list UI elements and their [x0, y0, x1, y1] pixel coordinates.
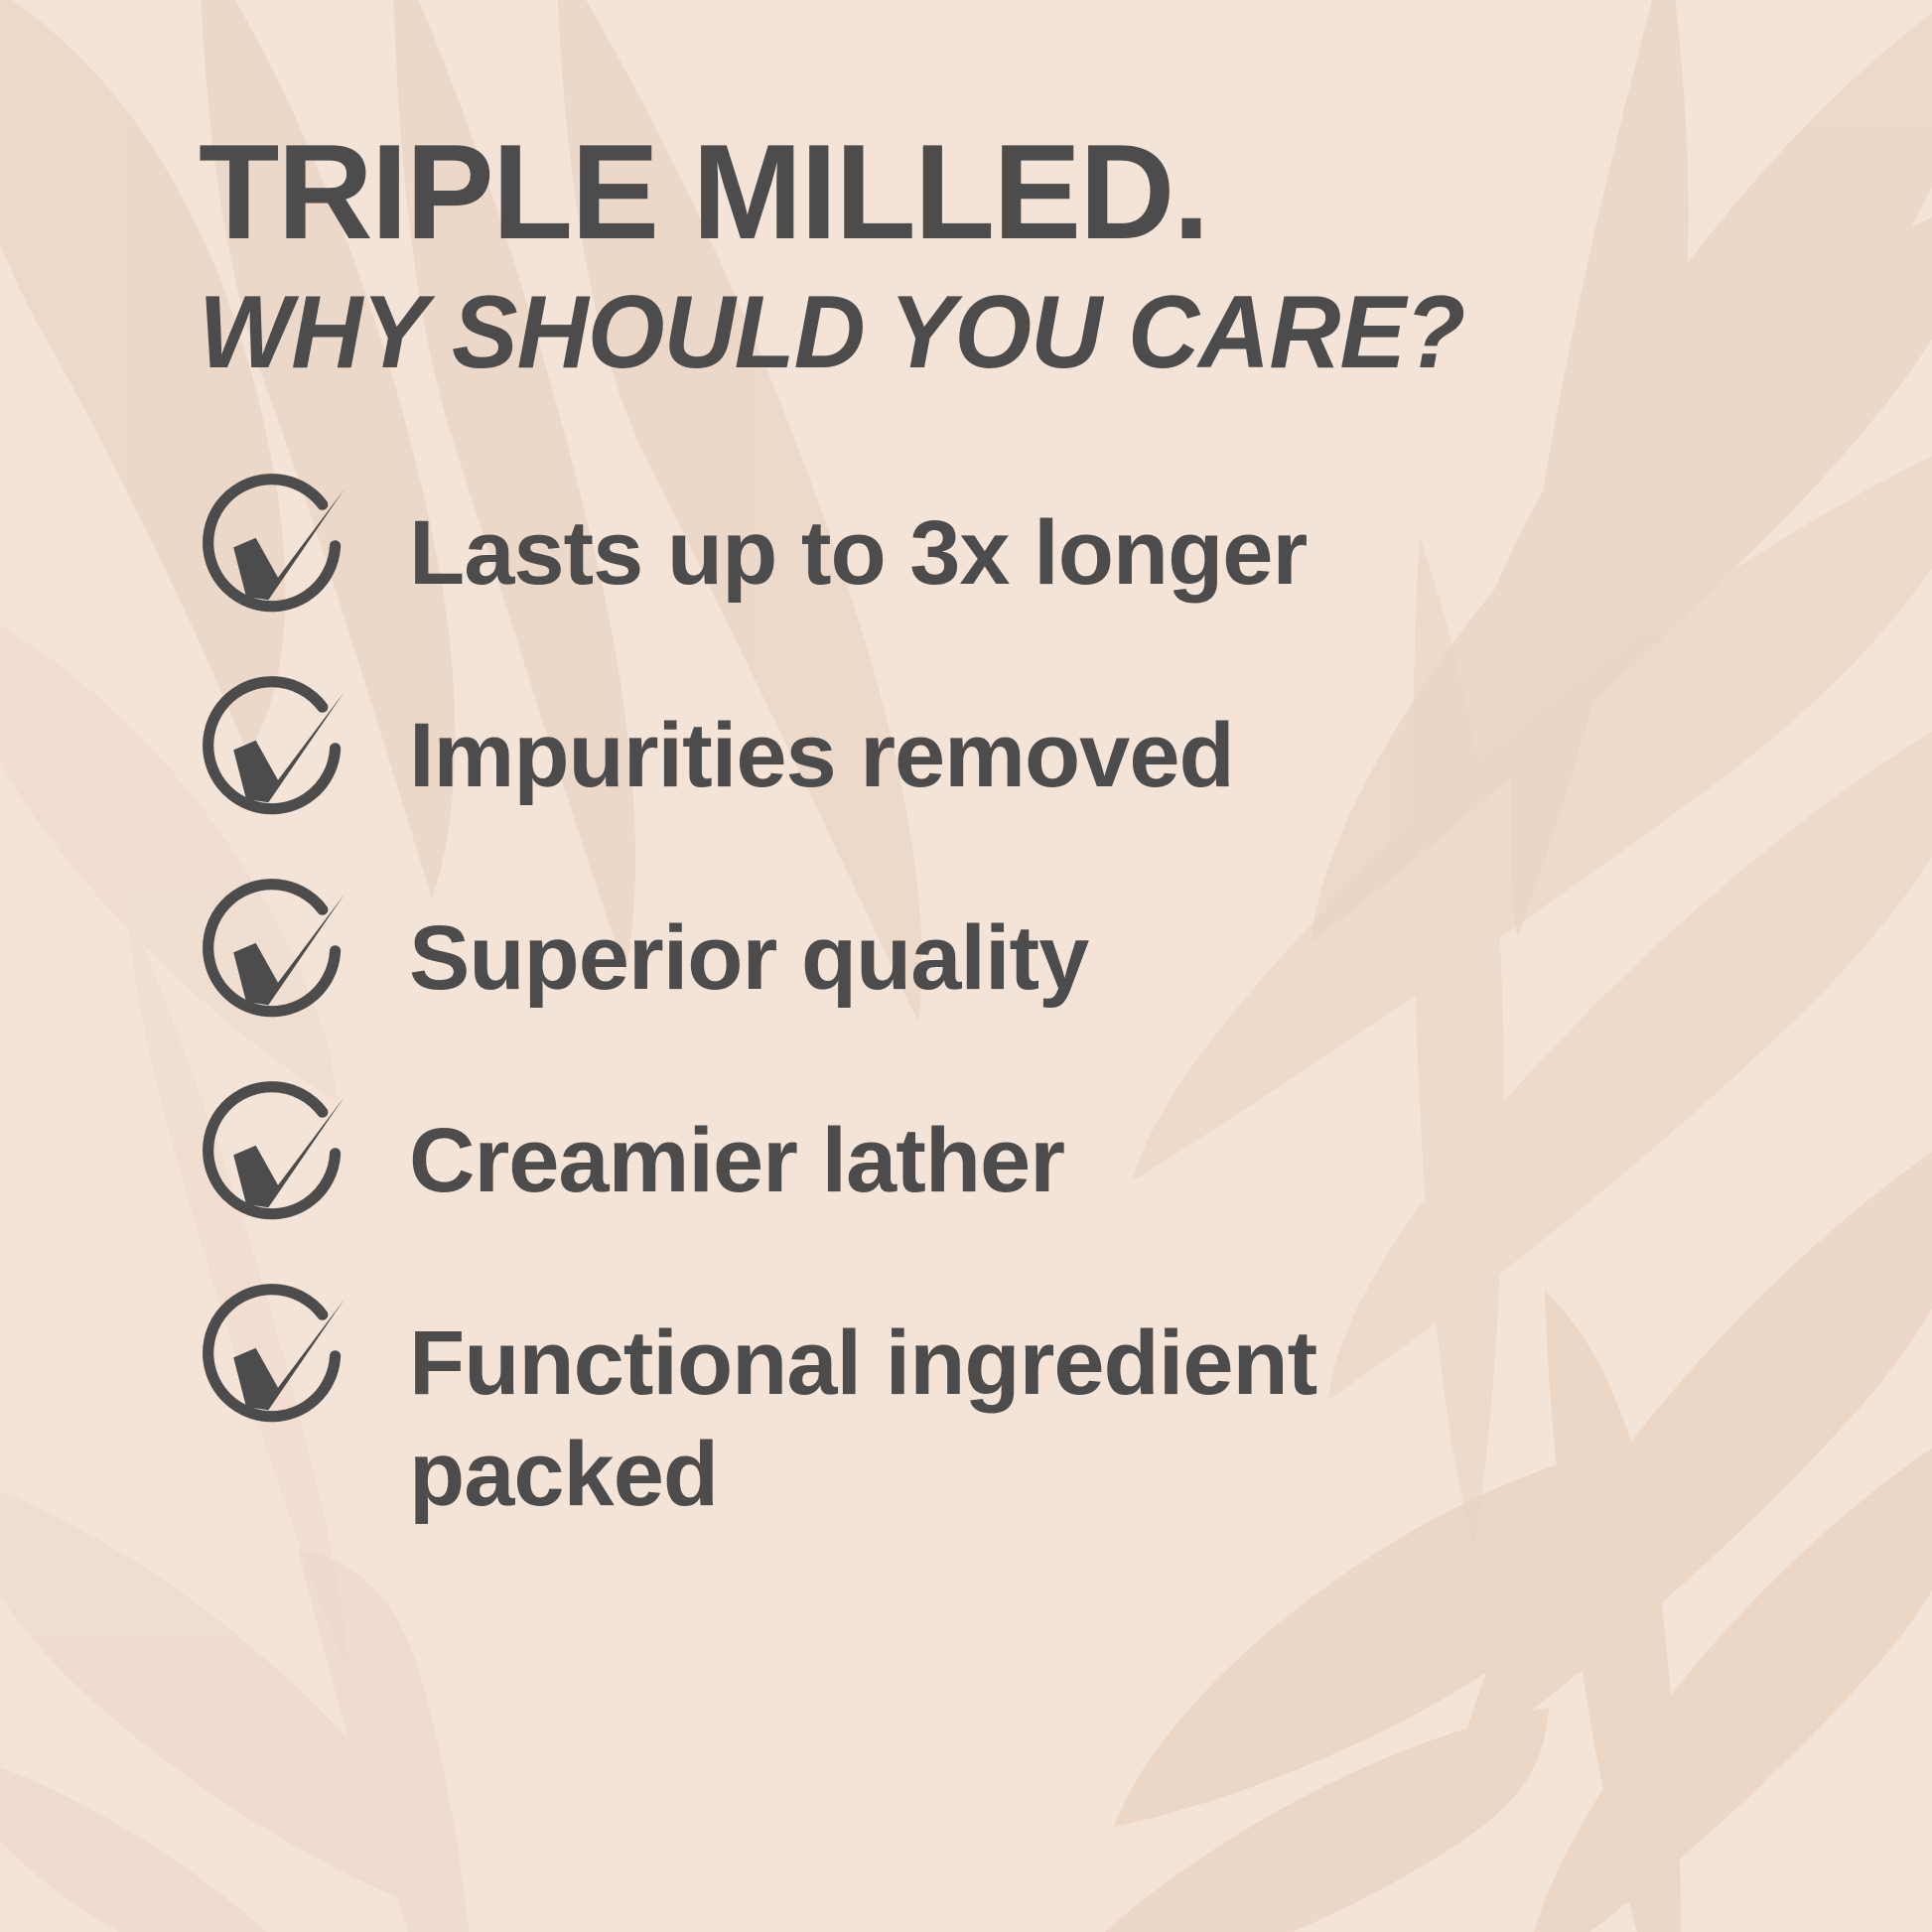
page-subtitle: WHY SHOULD YOU CARE?	[199, 281, 1863, 384]
check-circle-icon	[199, 875, 357, 1034]
check-circle-icon	[199, 1280, 357, 1439]
page-title: TRIPLE MILLED.	[199, 124, 1897, 259]
leaf-cluster-bottom-left	[0, 1469, 475, 1932]
list-item-label: Impurities removed	[409, 678, 1234, 811]
check-circle-icon	[199, 672, 357, 831]
list-item: Creamier lather	[199, 1083, 1932, 1236]
list-item-label: Lasts up to 3x longer	[409, 476, 1307, 609]
check-circle-icon	[199, 470, 357, 628]
benefit-list: Lasts up to 3x longer Impurities removed…	[199, 476, 1932, 1530]
list-item: Lasts up to 3x longer	[199, 476, 1932, 628]
list-item: Superior quality	[199, 881, 1932, 1034]
check-circle-icon	[199, 1077, 357, 1236]
list-item-label: Functional ingredient packed	[409, 1286, 1571, 1530]
list-item-label: Superior quality	[409, 881, 1088, 1014]
promo-card: TRIPLE MILLED. WHY SHOULD YOU CARE? Last…	[0, 0, 1932, 1530]
list-item: Impurities removed	[199, 678, 1932, 831]
list-item-label: Creamier lather	[409, 1083, 1064, 1216]
list-item: Functional ingredient packed	[199, 1286, 1932, 1530]
